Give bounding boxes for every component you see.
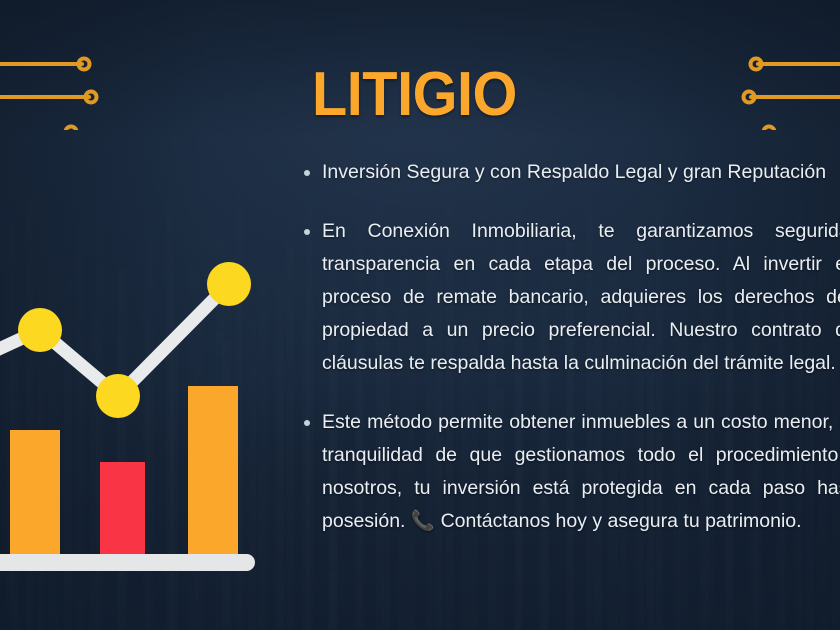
slide-canvas: LITIGIO Inversión Segura y con Respaldo … — [0, 0, 840, 630]
list-item-text: Este método permite obtener inmuebles a … — [322, 411, 840, 532]
circuit-decoration-left — [0, 0, 150, 130]
bullet-dot-icon — [304, 420, 310, 426]
chart-bar-1 — [10, 430, 60, 555]
list-item: Inversión Segura y con Respaldo Legal y … — [300, 156, 840, 189]
circuit-node-icon — [66, 127, 77, 131]
list-item: En Conexión Inmobiliaria, te garantizamo… — [300, 215, 840, 380]
list-item-text: En Conexión Inmobiliaria, te garantizamo… — [322, 220, 840, 374]
chart-point-marker — [207, 262, 251, 306]
bullet-dot-icon — [304, 229, 310, 235]
chart-point-marker — [18, 308, 62, 352]
chart-point-marker — [96, 374, 140, 418]
chart-baseline — [0, 554, 255, 571]
chart-bar-3 — [188, 386, 238, 555]
bullet-list: Inversión Segura y con Respaldo Legal y … — [300, 156, 840, 538]
list-item: Este método permite obtener inmuebles a … — [300, 406, 840, 538]
growth-chart-illustration — [0, 250, 270, 580]
circuit-node-icon — [764, 127, 775, 131]
circuit-decoration-right — [690, 0, 840, 130]
page-title: LITIGIO — [312, 64, 517, 126]
bullet-dot-icon — [304, 170, 310, 176]
chart-bar-2 — [100, 462, 145, 555]
list-item-text: Inversión Segura y con Respaldo Legal y … — [322, 161, 826, 183]
